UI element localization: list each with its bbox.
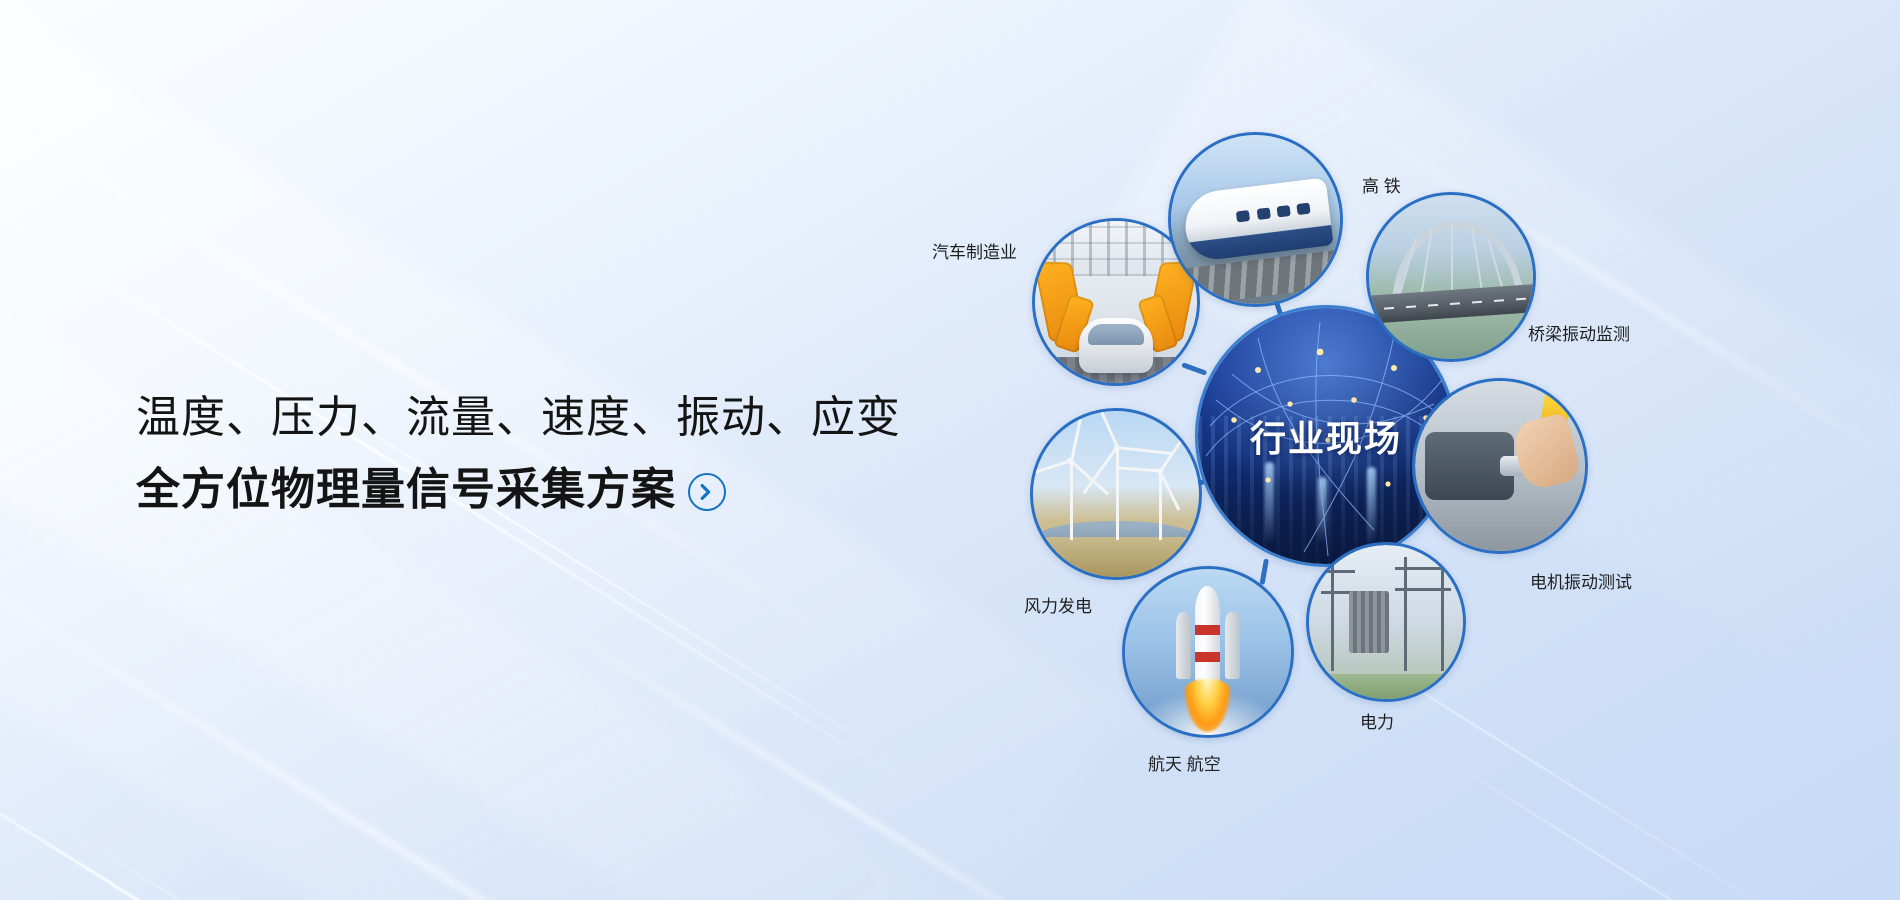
cluster-center-label: 行业现场 [1250,410,1402,462]
cluster-label-rail: 高 铁 [1362,172,1401,197]
cluster-label-auto: 汽车制造业 [932,238,1017,263]
hero-banner: 温度、压力、流量、速度、振动、应变 全方位物理量信号采集方案 [0,0,1900,900]
industry-cluster: 行业现场 汽车制造业 [1030,130,1590,750]
cluster-label-aero: 航天 航空 [1148,750,1221,775]
rocket-launch-image [1125,569,1291,735]
cable-stayed-bridge-image [1369,195,1533,359]
cluster-label-power: 电力 [1360,708,1394,733]
cluster-node-bridge[interactable] [1366,192,1536,362]
power-substation-image [1309,545,1463,699]
cluster-node-wind[interactable] [1030,408,1202,580]
cluster-label-wind: 风力发电 [1024,592,1092,617]
headline-line-2: 全方位物理量信号采集方案 [136,454,676,526]
cluster-node-aero[interactable] [1122,566,1294,738]
cluster-label-motor: 电机振动测试 [1530,568,1632,593]
headline-line-2-wrap: 全方位物理量信号采集方案 [136,454,896,526]
cluster-node-power[interactable] [1306,542,1466,702]
chevron-right-circle-icon[interactable] [688,473,726,511]
wind-turbine-farm-image [1033,411,1199,577]
motor-vibration-test-image [1415,381,1585,551]
headline-block: 温度、压力、流量、速度、振动、应变 全方位物理量信号采集方案 [136,382,896,526]
headline-line-1: 温度、压力、流量、速度、振动、应变 [136,382,896,454]
cluster-node-rail[interactable] [1168,132,1343,307]
cluster-node-motor[interactable] [1412,378,1588,554]
cluster-label-bridge: 桥梁振动监测 [1528,320,1630,345]
high-speed-train-image [1171,135,1340,304]
